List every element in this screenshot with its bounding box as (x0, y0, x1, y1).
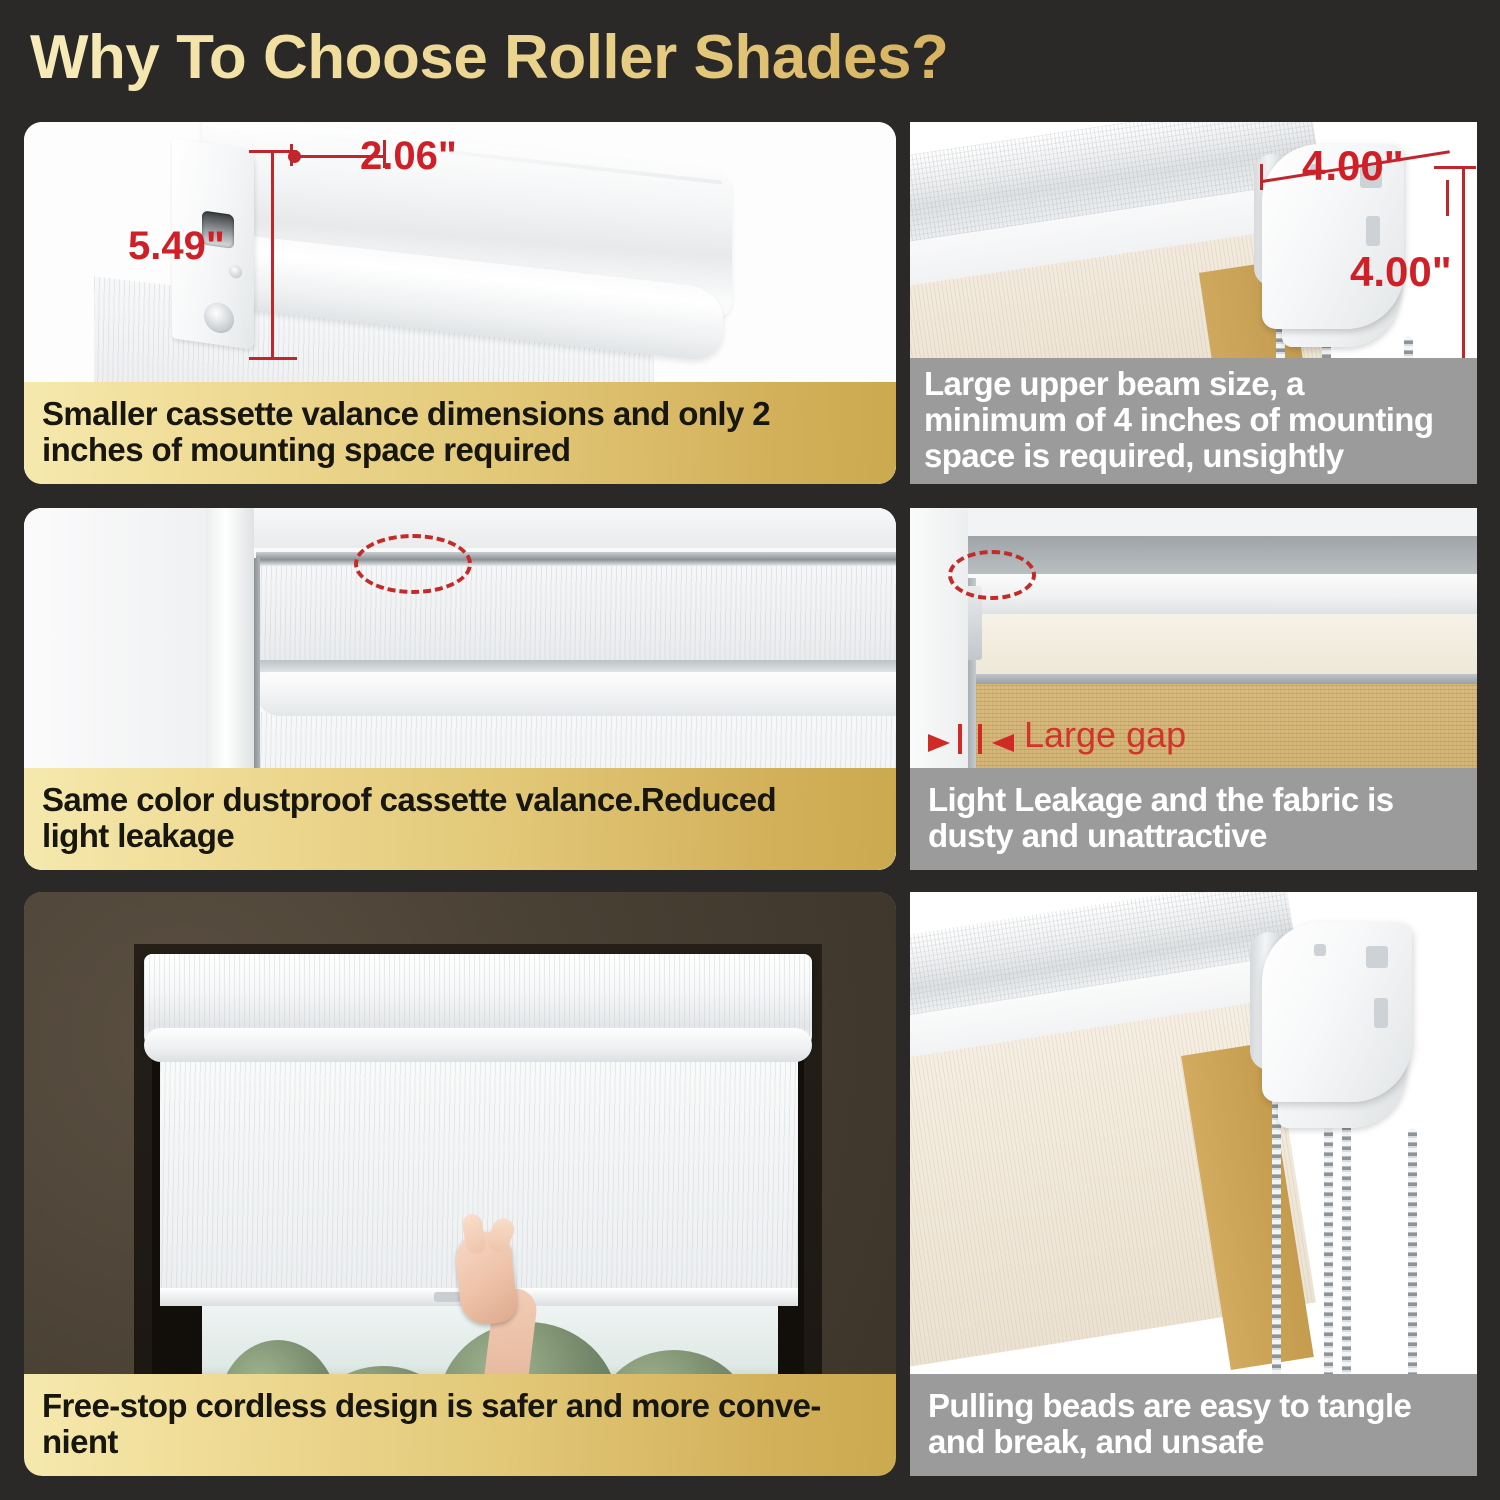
panel-3-caption-line-1: Same color dustproof cassette valance.Re… (42, 782, 878, 818)
roller-tube (256, 668, 896, 716)
cassette-valance-edge (256, 552, 896, 566)
panel-2-caption-line-2: minimum of 4 inches of mounting (924, 402, 1463, 438)
infographic-root: Why To Choose Roller Shades? 2.06" 5.49" (0, 0, 1500, 1500)
panel-1-caption: Smaller cassette valance dimensions and … (24, 382, 896, 484)
panel-4-caption-line-2: dusty and unattractive (928, 818, 1459, 854)
panel-2-large-upper-beam: 4.00" 4.00" Large upper beam size, a min… (910, 122, 1477, 484)
bracket-screw-icon (204, 301, 234, 335)
panel-2-caption-line-1: Large upper beam size, a (924, 366, 1463, 402)
bracket-screw-small-icon (229, 264, 242, 279)
panel-5-caption-line-2: nient (42, 1424, 878, 1460)
panel-3-caption-line-2: light leakage (42, 818, 878, 854)
dimension-label-height: 5.49" (128, 224, 225, 269)
panel-6-caption: Pulling beads are easy to tangle and bre… (910, 1374, 1477, 1476)
bead-chain-4[interactable] (1408, 1128, 1417, 1410)
panel-1-caption-line-2: inches of mounting space required (42, 432, 878, 468)
panel-3-caption: Same color dustproof cassette valance.Re… (24, 768, 896, 870)
panel-1-smaller-cassette: 2.06" 5.49" Smaller cassette valance dim… (24, 122, 896, 484)
window-head-jamb (202, 508, 896, 548)
highlight-ellipse (354, 534, 472, 594)
panel-1-caption-line-1: Smaller cassette valance dimensions and … (42, 396, 878, 432)
highlight-ellipse (948, 550, 1036, 600)
shade-fabric-cream (966, 612, 1477, 674)
height-guide-cap-top (1434, 166, 1476, 169)
upper-beam (962, 570, 1477, 614)
height-guide-cap-bottom (249, 357, 297, 360)
page-title: Why To Choose Roller Shades? (30, 16, 1230, 100)
panel-5-cordless-design: Free-stop cordless design is safer and m… (24, 892, 896, 1476)
panel-5-caption: Free-stop cordless design is safer and m… (24, 1374, 896, 1476)
dimension-label-width: 2.06" (360, 134, 457, 179)
panel-3-dustproof-cassette: smaller gap Same color dustproof cassett… (24, 508, 896, 870)
panel-6-pulling-beads: Pulling beads are easy to tangle and bre… (910, 892, 1477, 1476)
gap-marker-1 (958, 724, 962, 754)
width-guide-cap-right (1446, 180, 1449, 216)
panel-6-caption-line-1: Pulling beads are easy to tangle (928, 1388, 1459, 1424)
panel-2-caption: Large upper beam size, a minimum of 4 in… (910, 358, 1477, 484)
panel-4-caption-line-1: Light Leakage and the fabric is (928, 782, 1459, 818)
shade-fabric-upper (256, 564, 896, 660)
mounting-bracket-upper (1262, 922, 1412, 1102)
gap-marker-2 (978, 724, 982, 754)
panel-4-light-leakage: Large gap Light Leakage and the fabric i… (910, 508, 1477, 870)
panel-5-caption-line-1: Free-stop cordless design is safer and m… (42, 1388, 878, 1424)
panel-6-caption-line-2: and break, and unsafe (928, 1424, 1459, 1460)
gap-arrow-right-icon (992, 734, 1014, 752)
gap-label: Large gap (1024, 714, 1186, 756)
width-guide-dot (288, 150, 301, 163)
beam-shadow (962, 536, 1477, 574)
roller-tube (144, 1028, 812, 1062)
width-guide-cap-left (1260, 164, 1263, 190)
gap-arrow-left-icon (928, 734, 950, 752)
dimension-label-width: 4.00" (1302, 142, 1404, 190)
height-guide-line (271, 150, 274, 360)
panel-4-caption: Light Leakage and the fabric is dusty an… (910, 768, 1477, 870)
dimension-label-height: 4.00" (1350, 248, 1452, 296)
panel-2-caption-line-3: space is required, unsightly (924, 438, 1463, 474)
height-guide-line (1462, 166, 1465, 388)
